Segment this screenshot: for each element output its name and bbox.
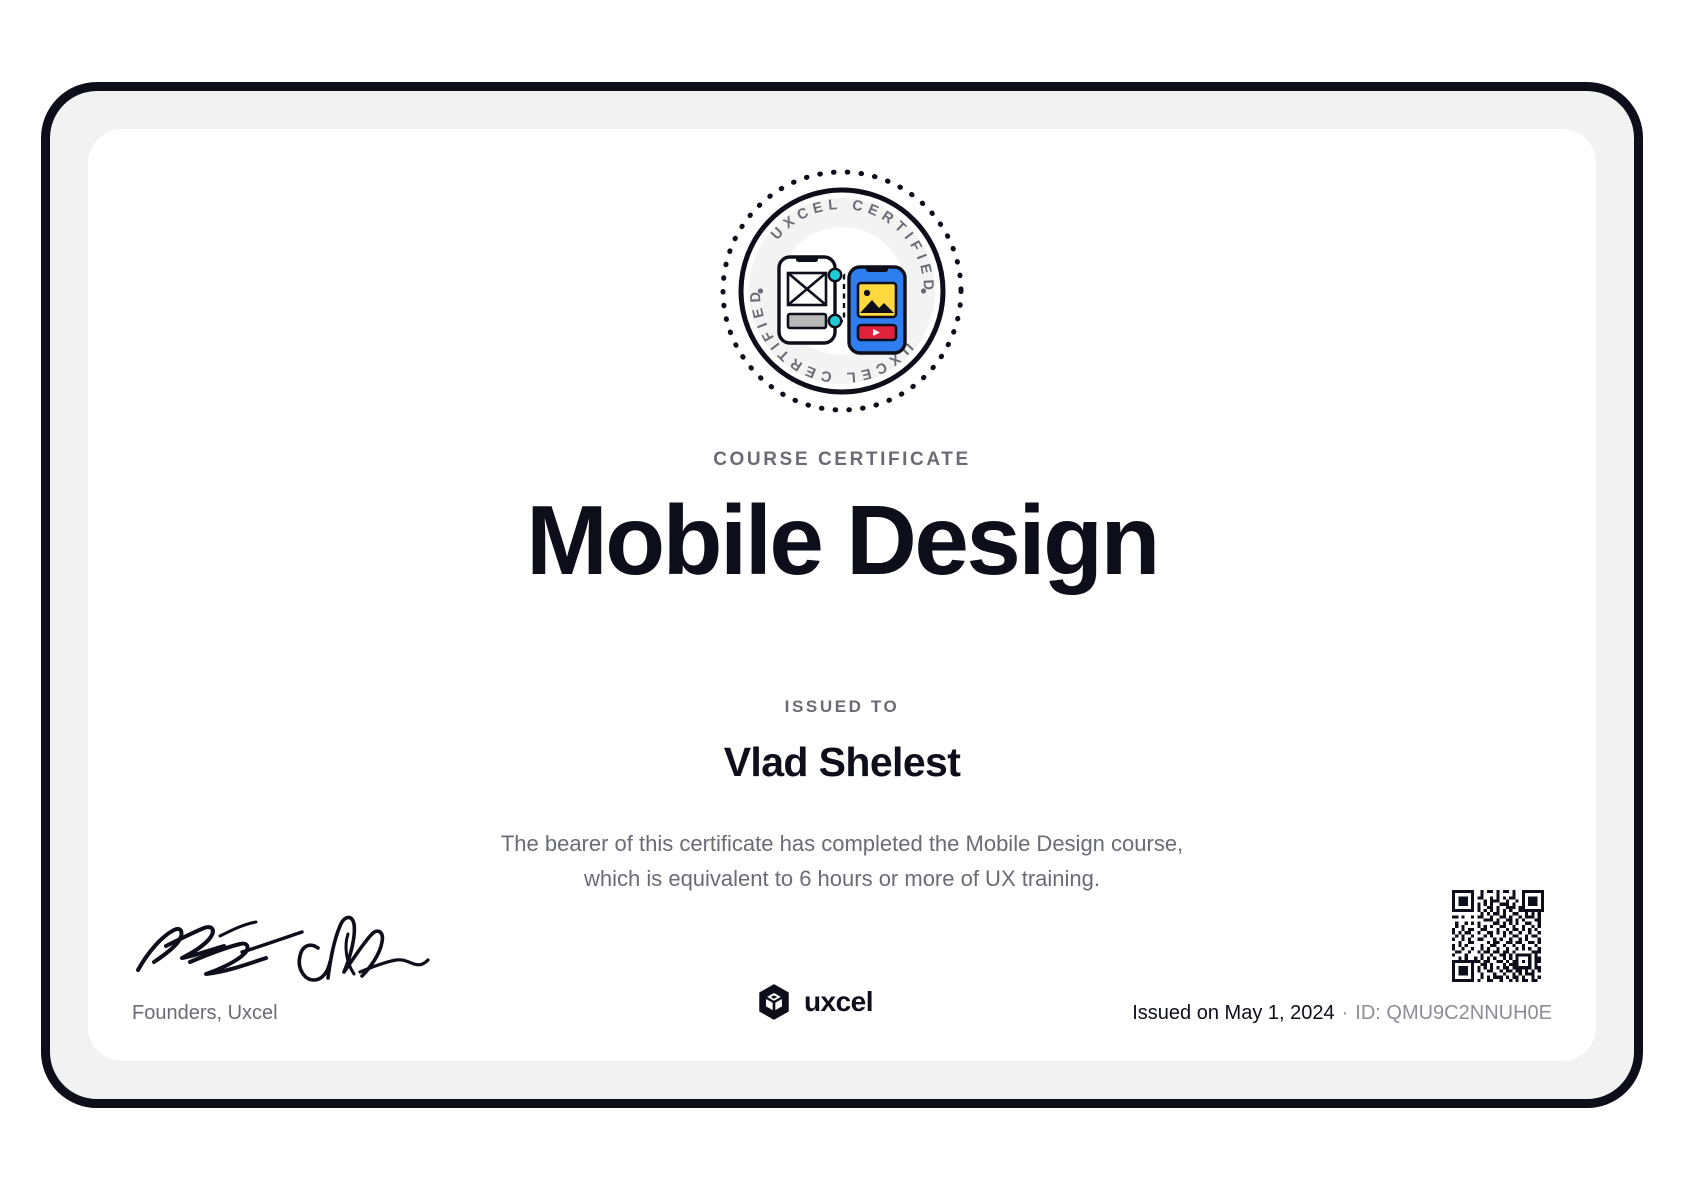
recipient-name: Vlad Shelest	[724, 739, 961, 786]
uxcel-certified-seal: UXCEL CERTIFIED UXCEL CERTIFIED	[712, 161, 972, 421]
footer-left: Founders, Uxcel	[132, 900, 552, 1025]
founders-label: Founders, Uxcel	[132, 1002, 278, 1025]
certificate-id: ID: QMU9C2NNUH0E	[1355, 1002, 1552, 1024]
handle-dot-bottom	[829, 315, 841, 327]
issued-on-date: Issued on May 1, 2024	[1132, 1002, 1334, 1024]
issued-to-label: ISSUED TO	[785, 697, 900, 717]
seal-bullet-left	[758, 288, 763, 293]
certificate-footer: Founders, Uxcel uxcel	[88, 851, 1596, 1061]
handle-dot-top	[829, 269, 841, 281]
issue-separator: ·	[1342, 1002, 1349, 1024]
wireframe-phone-icon	[779, 257, 835, 343]
uxcel-brand-lockup: uxcel	[755, 983, 873, 1025]
verification-qr-code[interactable]	[1452, 890, 1544, 982]
issue-info: Issued on May 1, 2024·ID: QMU9C2NNUH0E	[1132, 1002, 1552, 1025]
founder-signatures	[132, 900, 432, 986]
course-title: Mobile Design	[526, 491, 1158, 591]
certificate-frame: UXCEL CERTIFIED UXCEL CERTIFIED	[41, 82, 1643, 1108]
eyebrow-label: COURSE CERTIFICATE	[713, 449, 971, 471]
blue-phone-icon	[849, 267, 905, 353]
seal-bullet-right	[921, 288, 926, 293]
certificate-card: UXCEL CERTIFIED UXCEL CERTIFIED	[88, 129, 1596, 1061]
certificate-page: UXCEL CERTIFIED UXCEL CERTIFIED	[0, 0, 1684, 1190]
footer-right: Issued on May 1, 2024·ID: QMU9C2NNUH0E	[1092, 890, 1552, 1025]
uxcel-brand-name: uxcel	[804, 986, 873, 1018]
uxcel-logo-icon	[755, 983, 793, 1021]
